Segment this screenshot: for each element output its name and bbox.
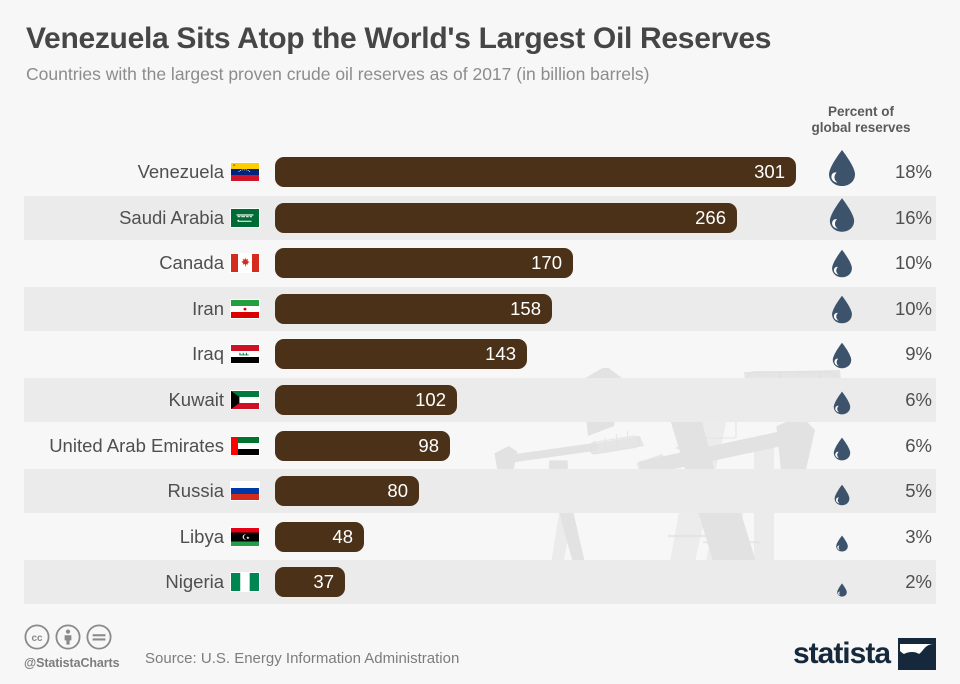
- country-label: Libya: [24, 515, 224, 559]
- percent-label: 9%: [905, 332, 932, 376]
- percent-label: 10%: [895, 241, 932, 285]
- value-bar[interactable]: 48: [275, 522, 364, 552]
- bar-value-label: 98: [418, 431, 439, 461]
- country-label: Venezuela: [24, 150, 224, 194]
- oil-droplet-icon: [828, 197, 856, 233]
- value-bar[interactable]: 266: [275, 203, 737, 233]
- percent-header-line2: global reserves: [786, 120, 936, 136]
- percent-cell: 16%: [814, 196, 936, 240]
- oil-droplet-icon: [831, 249, 854, 278]
- bar-value-label: 143: [485, 339, 516, 369]
- percent-label: 6%: [905, 378, 932, 422]
- value-bar[interactable]: 158: [275, 294, 552, 324]
- oil-droplet-icon: [833, 391, 852, 415]
- value-bar[interactable]: 143: [275, 339, 527, 369]
- page-title: Venezuela Sits Atop the World's Largest …: [26, 20, 936, 58]
- flag-russia-icon: [230, 481, 260, 501]
- percent-cell: 5%: [814, 469, 936, 513]
- percent-cell: 10%: [814, 287, 936, 331]
- table-row: Libya 48 3%: [24, 515, 936, 559]
- value-bar[interactable]: 301: [275, 157, 796, 187]
- oil-droplet-icon: [831, 342, 853, 369]
- country-label: United Arab Emirates: [24, 424, 224, 468]
- flag-libya-icon: [230, 527, 260, 547]
- bar-value-label: 301: [754, 157, 785, 187]
- country-label: Iraq: [24, 332, 224, 376]
- statista-handle: @StatistaCharts: [24, 656, 119, 670]
- value-bar[interactable]: 98: [275, 431, 450, 461]
- country-label: Iran: [24, 287, 224, 331]
- infographic-canvas: Venezuela Sits Atop the World's Largest …: [0, 0, 960, 684]
- creative-commons-badges: cc: [24, 624, 112, 650]
- percent-cell: 18%: [814, 150, 936, 194]
- table-row: Saudi Arabia 266 16%: [24, 196, 936, 240]
- percent-cell: 6%: [814, 378, 936, 422]
- percent-label: 16%: [895, 196, 932, 240]
- bar-value-label: 102: [415, 385, 446, 415]
- cc-nd-equals-icon: [86, 624, 112, 650]
- table-row: Kuwait 102 6%: [24, 378, 936, 422]
- percent-label: 18%: [895, 150, 932, 194]
- percent-cell: 10%: [814, 241, 936, 285]
- statista-wordmark: statista: [793, 639, 890, 669]
- flag-iraq-icon: [230, 344, 260, 364]
- table-row: United Arab Emirates 98 6%: [24, 424, 936, 468]
- header: Venezuela Sits Atop the World's Largest …: [26, 20, 936, 86]
- statista-logo-mark: [898, 638, 936, 670]
- table-row: Iraq 143 9%: [24, 332, 936, 376]
- percent-column-header: Percent of global reserves: [786, 104, 936, 136]
- table-row: Nigeria 37 2%: [24, 560, 936, 604]
- svg-text:cc: cc: [31, 633, 43, 644]
- source-text: Source: U.S. Energy Information Administ…: [145, 650, 459, 667]
- percent-cell: 9%: [814, 332, 936, 376]
- percent-label: 2%: [905, 560, 932, 604]
- country-label: Kuwait: [24, 378, 224, 422]
- bar-value-label: 48: [332, 522, 353, 552]
- percent-cell: 6%: [814, 424, 936, 468]
- country-label: Russia: [24, 469, 224, 513]
- percent-cell: 3%: [814, 515, 936, 559]
- bar-value-label: 158: [510, 294, 541, 324]
- percent-cell: 2%: [814, 560, 936, 604]
- country-label: Nigeria: [24, 560, 224, 604]
- flag-uae-icon: [230, 436, 260, 456]
- value-bar[interactable]: 37: [275, 567, 345, 597]
- flag-iran-icon: [230, 299, 260, 319]
- statista-logo[interactable]: statista: [793, 638, 936, 670]
- table-row: Canada 170 10%: [24, 241, 936, 285]
- cc-by-person-icon: [55, 624, 81, 650]
- percent-label: 5%: [905, 469, 932, 513]
- percent-label: 3%: [905, 515, 932, 559]
- bar-value-label: 37: [313, 567, 334, 597]
- percent-label: 10%: [895, 287, 932, 331]
- country-label: Saudi Arabia: [24, 196, 224, 240]
- flag-kuwait-icon: [230, 390, 260, 410]
- oil-droplet-icon: [837, 583, 848, 597]
- value-bar[interactable]: 170: [275, 248, 573, 278]
- cc-icon: cc: [24, 624, 50, 650]
- oil-droplet-icon: [833, 437, 852, 461]
- table-row: Venezuela 301 18%: [24, 150, 936, 194]
- footer: cc @StatistaCharts Source: U.S. Energy I: [0, 612, 960, 684]
- value-bar[interactable]: 102: [275, 385, 457, 415]
- country-label: Canada: [24, 241, 224, 285]
- oil-droplet-icon: [827, 149, 857, 187]
- table-row: Iran 158: [24, 287, 936, 331]
- flag-canada-icon: [230, 253, 260, 273]
- flag-saudi-arabia-icon: [230, 208, 260, 228]
- percent-label: 6%: [905, 424, 932, 468]
- flag-nigeria-icon: [230, 572, 260, 592]
- percent-header-line1: Percent of: [786, 104, 936, 120]
- page-subtitle: Countries with the largest proven crude …: [26, 62, 936, 86]
- value-bar[interactable]: 80: [275, 476, 419, 506]
- flag-venezuela-icon: [230, 162, 260, 182]
- bar-value-label: 170: [531, 248, 562, 278]
- bar-chart: Venezuela 301 18% Saudi Arabia: [0, 150, 960, 606]
- oil-droplet-icon: [835, 535, 849, 552]
- table-row: Russia 80 5%: [24, 469, 936, 513]
- bar-value-label: 266: [695, 203, 726, 233]
- oil-droplet-icon: [834, 484, 851, 506]
- oil-droplet-icon: [831, 295, 854, 324]
- bar-value-label: 80: [387, 476, 408, 506]
